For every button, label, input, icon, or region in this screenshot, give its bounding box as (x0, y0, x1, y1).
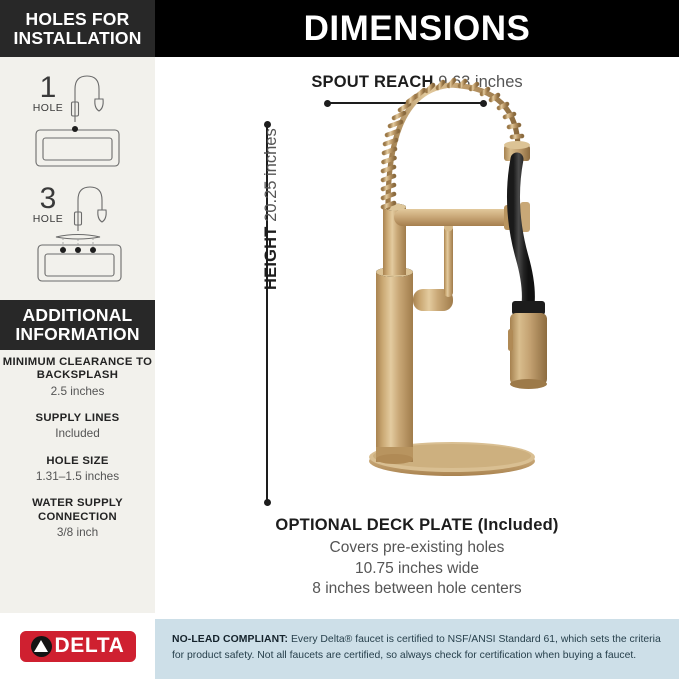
footer-badge: NO-LEAD COMPLIANT: (172, 634, 288, 645)
additional-information-list: MINIMUM CLEARANCE TO BACKSPLASH 2.5 inch… (0, 356, 155, 553)
sidebar: HOLES FOR INSTALLATION 1 HOLE 3 (0, 0, 155, 613)
measure-dot-bottom (264, 499, 271, 506)
info-title: SUPPLY LINES (0, 412, 155, 425)
svg-text:HOLE: HOLE (33, 102, 64, 114)
info-item: WATER SUPPLY CONNECTION 3/8 inch (0, 497, 155, 540)
height-label: HEIGHT 20.25 inches (262, 128, 281, 290)
footer-compliance-note: NO-LEAD COMPLIANT: Every Delta® faucet i… (155, 619, 679, 679)
info-value: Included (0, 426, 155, 441)
faucet-body (376, 204, 413, 465)
info-title: HOLE SIZE (0, 455, 155, 468)
holes-header-line-1: HOLES FOR (26, 10, 130, 29)
delta-logo: DELTA (0, 613, 155, 679)
page-title: DIMENSIONS (304, 11, 531, 46)
sink-one-hole-icon: 1 HOLE (0, 64, 155, 168)
additional-information-header: ADDITIONAL INFORMATION (0, 300, 155, 350)
info-title: MINIMUM CLEARANCE TO BACKSPLASH (0, 356, 155, 383)
info-value: 3/8 inch (0, 525, 155, 540)
caption-title: OPTIONAL DECK PLATE (Included) (155, 516, 679, 535)
additional-header-line-1: ADDITIONAL (23, 306, 133, 325)
delta-logo-badge: DELTA (19, 630, 137, 663)
svg-text:3: 3 (40, 182, 57, 215)
svg-text:1: 1 (40, 71, 57, 104)
spring-coil (383, 80, 523, 207)
info-item: SUPPLY LINES Included (0, 412, 155, 442)
info-value: 2.5 inches (0, 384, 155, 399)
deck-plate-caption: OPTIONAL DECK PLATE (Included) Covers pr… (155, 516, 679, 600)
page-header: DIMENSIONS (155, 0, 679, 57)
footer-text: NO-LEAD COMPLIANT: Every Delta® faucet i… (172, 632, 663, 664)
info-item: HOLE SIZE 1.31–1.5 inches (0, 455, 155, 485)
additional-header-line-2: INFORMATION (15, 325, 139, 344)
delta-triangle-icon (31, 636, 52, 657)
delta-wordmark: DELTA (55, 635, 125, 657)
info-value: 1.31–1.5 inches (0, 469, 155, 484)
measure-dot-start (324, 100, 331, 107)
height-value: 20.25 inches (262, 128, 280, 222)
spray-head (508, 301, 547, 389)
faucet-handle (413, 223, 453, 312)
svg-text:HOLE: HOLE (33, 213, 64, 225)
holes-for-installation-header: HOLES FOR INSTALLATION (0, 0, 155, 57)
holes-header-line-2: INSTALLATION (13, 29, 141, 48)
sink-three-hole-icon: 3 HOLE (0, 175, 155, 285)
info-title: WATER SUPPLY CONNECTION (0, 497, 155, 524)
caption-line: Covers pre-existing holes (155, 538, 679, 559)
product-dimensions-sheet: HOLES FOR INSTALLATION 1 HOLE 3 (0, 0, 679, 679)
caption-line: 8 inches between hole centers (155, 579, 679, 600)
info-item: MINIMUM CLEARANCE TO BACKSPLASH 2.5 inch… (0, 356, 155, 399)
caption-line: 10.75 inches wide (155, 559, 679, 580)
main-diagram: SPOUT REACH 9.63 inches HEIGHT 20.25 inc… (155, 57, 679, 613)
faucet-product-image (336, 57, 566, 527)
measure-dot-top (264, 121, 271, 128)
height-title: HEIGHT (262, 226, 280, 290)
height-measure-line: HEIGHT 20.25 inches (266, 122, 268, 505)
